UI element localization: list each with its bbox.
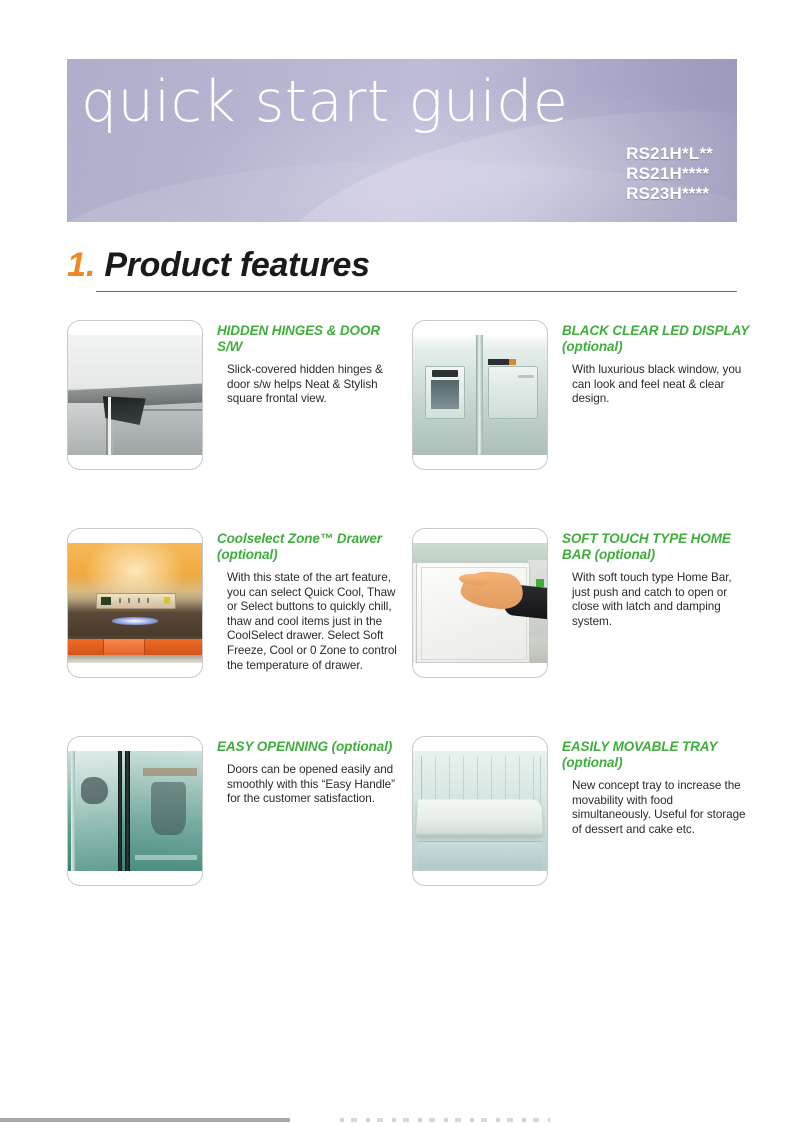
photo-frame bbox=[68, 335, 202, 455]
feature-title: EASILY MOVABLE TRAY (optional) bbox=[562, 739, 752, 771]
feature-body: With luxurious black window, you can loo… bbox=[562, 363, 752, 407]
feature-body: New concept tray to increase the movabil… bbox=[562, 779, 752, 837]
photo-content bbox=[413, 751, 547, 871]
feature-title: EASY OPENNING (optional) bbox=[217, 739, 407, 755]
feature-row: Coolselect Zone™ Drawer (optional) With … bbox=[67, 528, 767, 736]
feature-text: SOFT TOUCH TYPE HOME BAR (optional) With… bbox=[562, 531, 752, 629]
section-heading: 1.Product features bbox=[67, 246, 737, 296]
model-number: RS21H*L** bbox=[626, 144, 713, 164]
photo-frame bbox=[68, 751, 202, 871]
photo-content bbox=[68, 543, 202, 663]
feature-text: EASY OPENNING (optional) Doors can be op… bbox=[217, 739, 407, 807]
header-banner: quick start guide RS21H*L** RS21H**** RS… bbox=[67, 59, 737, 222]
easily-movable-tray-photo bbox=[412, 736, 548, 886]
photo-content bbox=[68, 751, 202, 871]
easy-openning-photo bbox=[67, 736, 203, 886]
black-clear-led-display-photo bbox=[412, 320, 548, 470]
soft-touch-home-bar-photo bbox=[412, 528, 548, 678]
model-number: RS23H**** bbox=[626, 184, 713, 204]
photo-frame bbox=[413, 543, 547, 663]
feature-text: BLACK CLEAR LED DISPLAY (optional) With … bbox=[562, 323, 752, 407]
section-title: Product features bbox=[104, 246, 369, 285]
photo-content bbox=[413, 335, 547, 455]
feature-text: Coolselect Zone™ Drawer (optional) With … bbox=[217, 531, 407, 673]
page-title: quick start guide bbox=[81, 71, 568, 135]
feature-title: HIDDEN HINGES & DOOR S/W bbox=[217, 323, 407, 355]
feature-text: HIDDEN HINGES & DOOR S/W Slick-covered h… bbox=[217, 323, 407, 407]
page-bottom-artifact bbox=[340, 1118, 550, 1122]
feature-body: Slick-covered hidden hinges & door s/w h… bbox=[217, 363, 407, 407]
document-page: quick start guide RS21H*L** RS21H**** RS… bbox=[0, 0, 802, 1125]
feature-title: Coolselect Zone™ Drawer (optional) bbox=[217, 531, 407, 563]
section-divider bbox=[96, 291, 737, 292]
photo-content bbox=[413, 543, 547, 663]
photo-frame bbox=[413, 335, 547, 455]
feature-row: HIDDEN HINGES & DOOR S/W Slick-covered h… bbox=[67, 320, 767, 528]
model-number-list: RS21H*L** RS21H**** RS23H**** bbox=[626, 144, 713, 204]
hidden-hinges-photo bbox=[67, 320, 203, 470]
feature-text: EASILY MOVABLE TRAY (optional) New conce… bbox=[562, 739, 752, 837]
feature-row: EASY OPENNING (optional) Doors can be op… bbox=[67, 736, 767, 906]
feature-body: With this state of the art feature, you … bbox=[217, 571, 407, 673]
model-number: RS21H**** bbox=[626, 164, 713, 184]
feature-body: Doors can be opened easily and smoothly … bbox=[217, 763, 407, 807]
feature-title: BLACK CLEAR LED DISPLAY (optional) bbox=[562, 323, 752, 355]
photo-content bbox=[68, 335, 202, 455]
photo-frame bbox=[413, 751, 547, 871]
feature-list: HIDDEN HINGES & DOOR S/W Slick-covered h… bbox=[67, 320, 767, 906]
feature-body: With soft touch type Home Bar, just push… bbox=[562, 571, 752, 629]
section-number: 1. bbox=[67, 246, 95, 285]
page-bottom-rule bbox=[0, 1118, 290, 1122]
coolselect-zone-drawer-photo bbox=[67, 528, 203, 678]
feature-title: SOFT TOUCH TYPE HOME BAR (optional) bbox=[562, 531, 752, 563]
photo-frame bbox=[68, 543, 202, 663]
